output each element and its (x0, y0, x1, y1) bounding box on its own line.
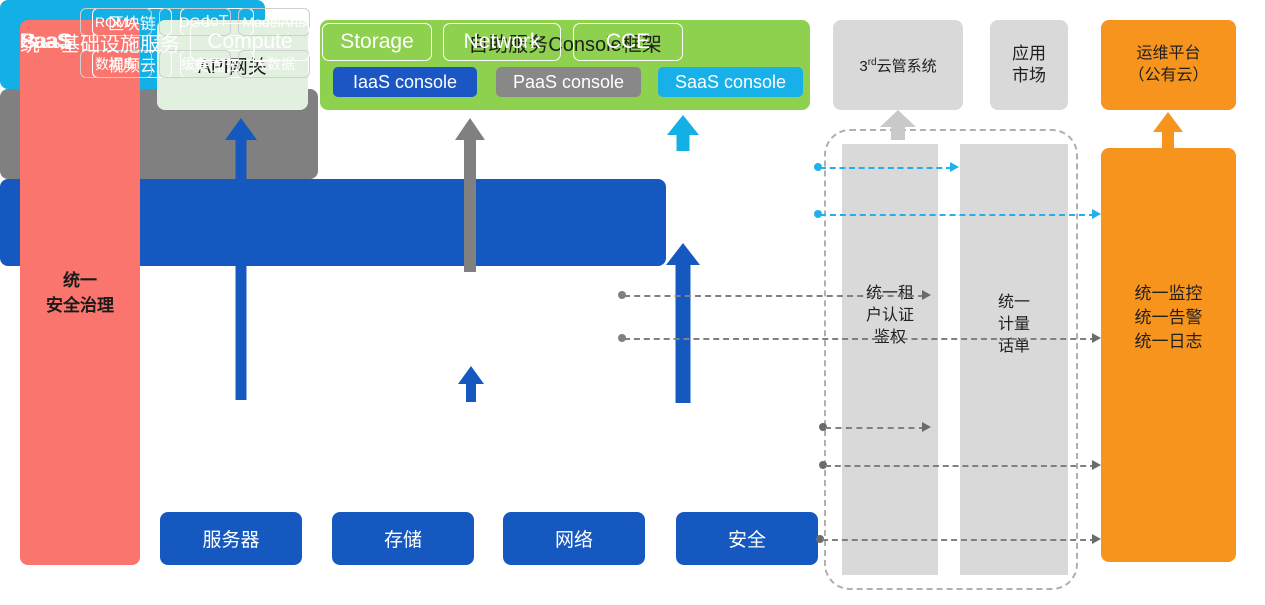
hardware-box-server: 服务器 (160, 512, 302, 565)
architecture-diagram-canvas: 统一 安全治理 API网关 自助服务Console框架 IaaS console… (0, 0, 1265, 605)
security-column-line1: 统一 (46, 268, 114, 293)
iaas-console-label: IaaS console (353, 72, 457, 93)
unified-security-governance-column: 统一 安全治理 (20, 20, 140, 565)
iaas-console-chip[interactable]: IaaS console (333, 67, 477, 97)
arrow-saas-to-console (667, 115, 699, 151)
infra-chip-cce-label: CCE (606, 30, 650, 54)
auth-line2: 户认证 (842, 305, 938, 327)
third-cloud-main-label: 云管系统 (877, 58, 937, 75)
shared-services-dashed-container (824, 129, 1078, 590)
infra-chip-compute-label: Compute (207, 30, 292, 54)
meter-line2: 计量 (960, 314, 1068, 336)
infra-chip-storage-label: Storage (340, 30, 414, 54)
saas-console-label: SaaS console (675, 72, 786, 93)
infrastructure-label: 统一基础设施服务 (14, 28, 186, 57)
arrow-infra-to-api-gateway (225, 118, 257, 400)
unified-monitoring-column (1101, 148, 1236, 562)
unified-metering-label: 统一 计量 话单 (960, 292, 1068, 358)
ops-platform-line1: 运维平台 (1128, 43, 1208, 65)
hardware-box-storage: 存储 (332, 512, 474, 565)
arrow-paas-to-console (455, 118, 485, 272)
meter-line1: 统一 (960, 292, 1068, 314)
ops-platform-box: 运维平台 （公有云） (1101, 20, 1236, 110)
connector-arrowhead-hardware (1092, 534, 1101, 544)
paas-console-label: PaaS console (513, 72, 624, 93)
hardware-server-label: 服务器 (202, 525, 259, 552)
hardware-security-label: 安全 (728, 525, 766, 552)
paas-console-chip[interactable]: PaaS console (496, 67, 641, 97)
arrow-infra-to-paas (458, 366, 484, 402)
paas-chip-database-label: 数据库 (95, 54, 137, 74)
third-cloud-ordinal-suffix: rd (868, 57, 877, 68)
security-column-line2: 安全治理 (46, 293, 114, 318)
app-market-line2: 市场 (1012, 65, 1046, 87)
connector-paas-to-auth (624, 295, 924, 297)
hardware-network-label: 网络 (555, 525, 593, 552)
third-party-cloud-management-box: 3rd云管系统 (833, 20, 963, 110)
arrow-monitoring-to-ops-platform (1152, 112, 1184, 150)
hardware-box-network: 网络 (503, 512, 645, 565)
app-market-line1: 应用 (1012, 43, 1046, 65)
saas-console-chip[interactable]: SaaS console (658, 67, 803, 97)
ops-platform-line2: （公有云） (1128, 65, 1208, 87)
monitoring-line1: 统一监控 (1101, 282, 1236, 306)
third-cloud-number: 3 (859, 58, 867, 75)
hardware-storage-label: 存储 (384, 525, 422, 552)
infra-chip-network-label: Network (463, 30, 540, 54)
connector-arrowhead-infra-2 (1092, 460, 1101, 470)
infra-chip-storage[interactable]: Storage (322, 23, 432, 61)
connector-infra-to-monitoring (825, 465, 1096, 467)
arrow-infra-to-saas (666, 243, 700, 403)
connector-arrowhead-infra-1 (922, 422, 931, 432)
connector-arrowhead-saas-1 (950, 162, 959, 172)
third-cloud-label: 3rd云管系统 (859, 55, 936, 76)
connector-saas-to-monitoring (820, 214, 1095, 216)
infra-chip-cce[interactable]: CCE (573, 23, 683, 61)
connector-arrowhead-paas-1 (922, 290, 931, 300)
monitoring-line3: 统一日志 (1101, 330, 1236, 354)
connector-saas-to-metering (820, 167, 952, 169)
monitoring-line2: 统一告警 (1101, 306, 1236, 330)
app-market-box: 应用 市场 (990, 20, 1068, 110)
connector-arrowhead-paas-2 (1092, 333, 1101, 343)
connector-paas-to-monitoring (624, 338, 1096, 340)
connector-infra-to-auth (825, 427, 925, 429)
unified-monitoring-label: 统一监控 统一告警 统一日志 (1101, 282, 1236, 354)
infra-chip-network[interactable]: Network (443, 23, 561, 61)
connector-hardware-to-monitoring (822, 539, 1096, 541)
infra-chip-compute[interactable]: Compute (190, 23, 310, 61)
connector-arrowhead-saas-2 (1092, 209, 1101, 219)
arrow-shared-services-to-third-cloud (880, 110, 916, 140)
hardware-box-security: 安全 (676, 512, 818, 565)
